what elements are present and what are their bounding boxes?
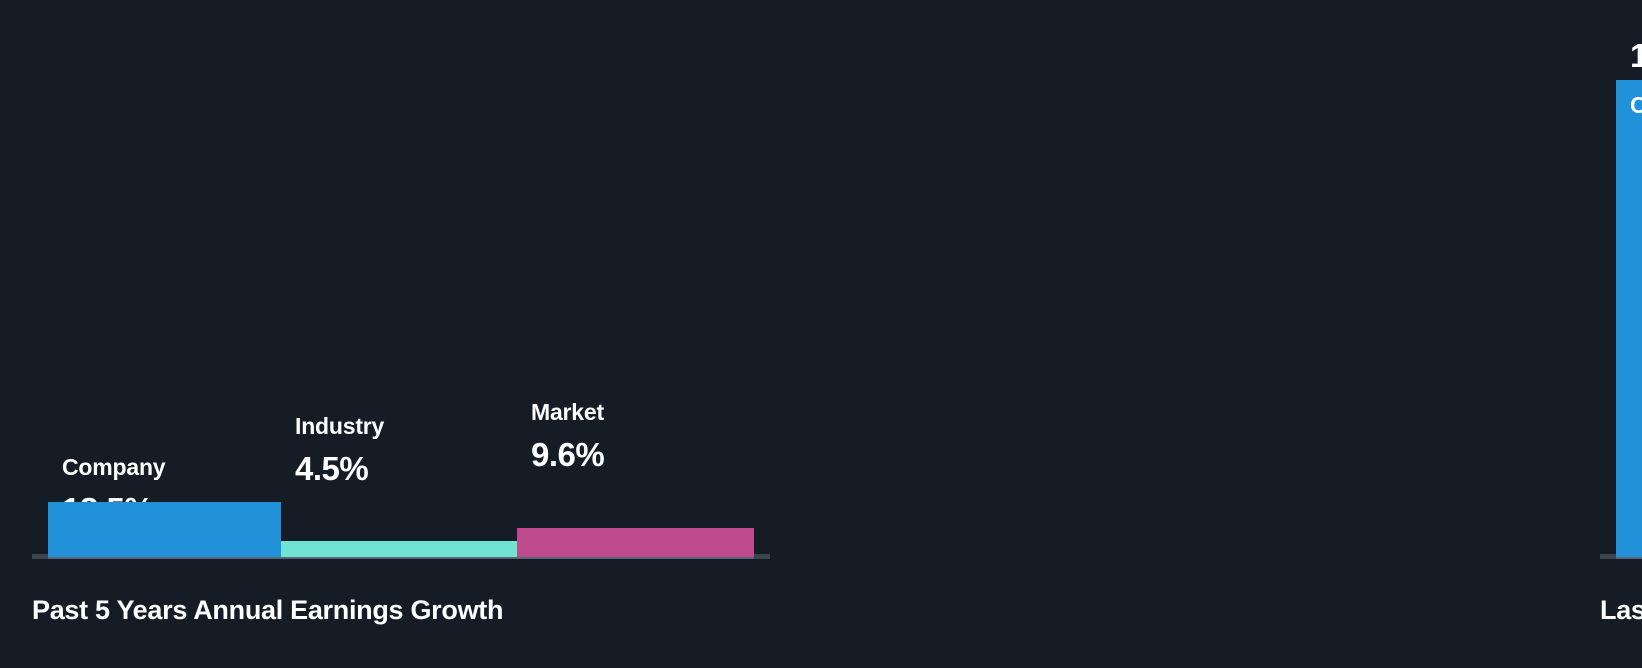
bar-category-company-left: Company (62, 454, 165, 481)
axis-tick-end-left (754, 554, 770, 559)
chart-past-5-years: Company 18.5% Industry 4.5% (0, 0, 800, 668)
bar-value-company-right: 162.7% (1630, 37, 1642, 75)
bar-market-left[interactable] (517, 528, 754, 557)
bar-company-left[interactable] (48, 502, 281, 557)
bar-industry-left[interactable] (281, 541, 517, 557)
bar-label-company-left: Company (62, 454, 165, 481)
chart-last-1-year: 162.7% Company 26.8% Industry (800, 0, 1642, 668)
bar-category-industry-left: Industry (295, 413, 384, 440)
plot-area-right: 162.7% Company 26.8% Industry (1600, 0, 1642, 559)
bar-value-text-market-left: 9.6% (531, 436, 604, 474)
axis-tick-start-left (32, 554, 48, 559)
chart-title-right: Last 1 Year Earnings Growth (1600, 595, 1642, 626)
bar-label-market-left: Market (531, 399, 604, 426)
bar-value-text-industry-left: 4.5% (295, 450, 368, 488)
bars-right: 162.7% Company 26.8% Industry (1616, 0, 1642, 557)
bars-left: Company 18.5% Industry 4.5% (48, 0, 754, 557)
bar-category-company-right: Company (1630, 92, 1642, 119)
earnings-growth-charts: Company 18.5% Industry 4.5% (0, 0, 1642, 668)
bar-slot-industry-left: Industry 4.5% (281, 0, 517, 557)
axis-tick-start-right (1600, 554, 1616, 559)
bar-slot-company-right: 162.7% Company (1616, 0, 1642, 557)
bar-category-market-left: Market (531, 399, 604, 426)
bar-value-industry-left: 4.5% (295, 450, 368, 488)
bar-company-right[interactable]: Company (1616, 80, 1642, 557)
chart-title-left: Past 5 Years Annual Earnings Growth (32, 595, 503, 626)
axis-baseline-left (32, 557, 770, 559)
bar-value-market-left: 9.6% (531, 436, 604, 474)
bar-slot-market-left: Market 9.6% (517, 0, 754, 557)
bar-value-text-company-right: 162.7% (1630, 37, 1642, 74)
bar-label-industry-left: Industry (295, 413, 384, 440)
plot-area-left: Company 18.5% Industry 4.5% (32, 0, 770, 559)
bar-slot-company-left: Company 18.5% (48, 0, 281, 557)
